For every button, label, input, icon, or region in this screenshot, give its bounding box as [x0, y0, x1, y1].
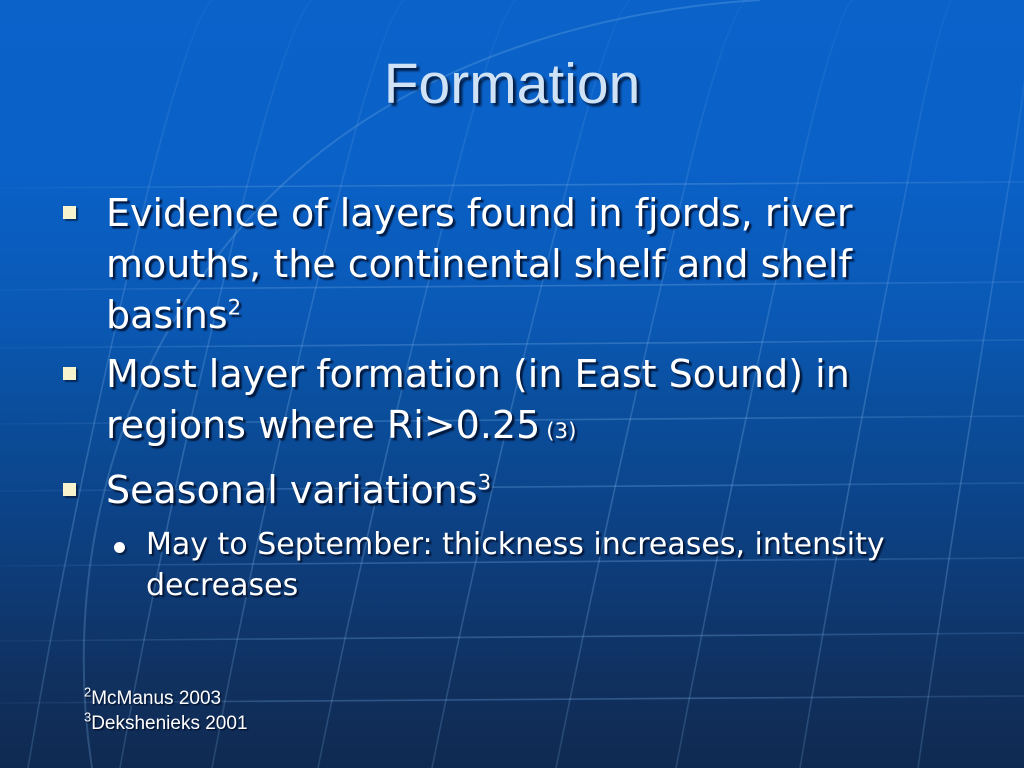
bullet-text: Most layer formation (in East Sound) in … [106, 349, 988, 457]
square-bullet-icon [63, 206, 76, 219]
square-bullet-icon [63, 367, 76, 380]
square-bullet-icon [63, 483, 76, 496]
bullet-text: Evidence of layers found in fjords, rive… [106, 188, 988, 341]
footnotes-block: 2McManus 2003 3Dekshenieks 2001 [84, 686, 248, 736]
bullet-item: Seasonal variations3 [58, 465, 988, 516]
bullet-item: Most layer formation (in East Sound) in … [58, 349, 988, 457]
footnote-line: 2McManus 2003 [84, 686, 248, 711]
slide-body-content: Evidence of layers found in fjords, rive… [58, 188, 988, 606]
footnote-line: 3Dekshenieks 2001 [84, 711, 248, 736]
footnote-text: McManus 2003 [91, 688, 221, 709]
bullet-text: Seasonal variations3 [106, 465, 988, 516]
bullet-superscript: 2 [228, 295, 242, 320]
sub-bullet-item: May to September: thickness increases, i… [58, 524, 988, 606]
bullet-superscript: 3 [478, 470, 492, 495]
bullet-text-main: Most layer formation (in East Sound) in … [106, 352, 850, 447]
bullet-reference: (3) [540, 419, 576, 444]
bullet-item: Evidence of layers found in fjords, rive… [58, 188, 988, 341]
bullet-text-main: Seasonal variations [106, 468, 478, 512]
slide-title: Formation [0, 55, 1024, 115]
sub-bullet-text: May to September: thickness increases, i… [146, 524, 988, 606]
dot-bullet-icon [114, 542, 125, 553]
presentation-slide: Formation Evidence of layers found in fj… [0, 0, 1024, 768]
footnote-text: Dekshenieks 2001 [91, 713, 247, 734]
bullet-text-main: Evidence of layers found in fjords, rive… [106, 191, 853, 337]
